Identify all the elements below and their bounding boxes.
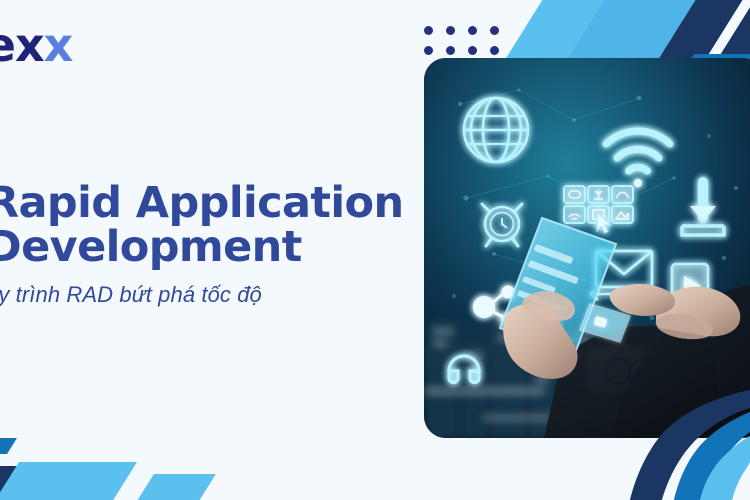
grid-dot [468, 26, 477, 35]
hero-image: 31 [424, 58, 750, 438]
brand-logo[interactable]: lexx [0, 22, 72, 68]
grid-dot [490, 26, 499, 35]
brand-logo-accent: x [44, 18, 73, 72]
grid-dot [490, 46, 499, 55]
banner-canvas: lexx Rapid Application Development uy tr… [0, 0, 750, 500]
grid-dot [446, 26, 455, 35]
grid-dot [468, 46, 477, 55]
decor-parallelogram-bottom-steel [0, 438, 17, 454]
page-subtitle: uy trình RAD bứt phá tốc độ [0, 282, 406, 308]
page-title-line-1: Rapid Application [0, 182, 406, 226]
hero-illustration: 31 [424, 58, 750, 438]
headline-block: Rapid Application Development uy trình R… [0, 182, 406, 308]
decor-parallelogram-bottom-blue [0, 462, 137, 500]
grid-dot [424, 46, 433, 55]
grid-dot [446, 46, 455, 55]
page-title-line-2: Development [0, 226, 406, 270]
brand-logo-main: lex [0, 18, 44, 72]
swoosh-band-light [700, 436, 750, 500]
decor-parallelogram-bottom-blue-small [130, 474, 216, 500]
dot-grid-decoration [424, 26, 500, 56]
grid-dot [424, 26, 433, 35]
